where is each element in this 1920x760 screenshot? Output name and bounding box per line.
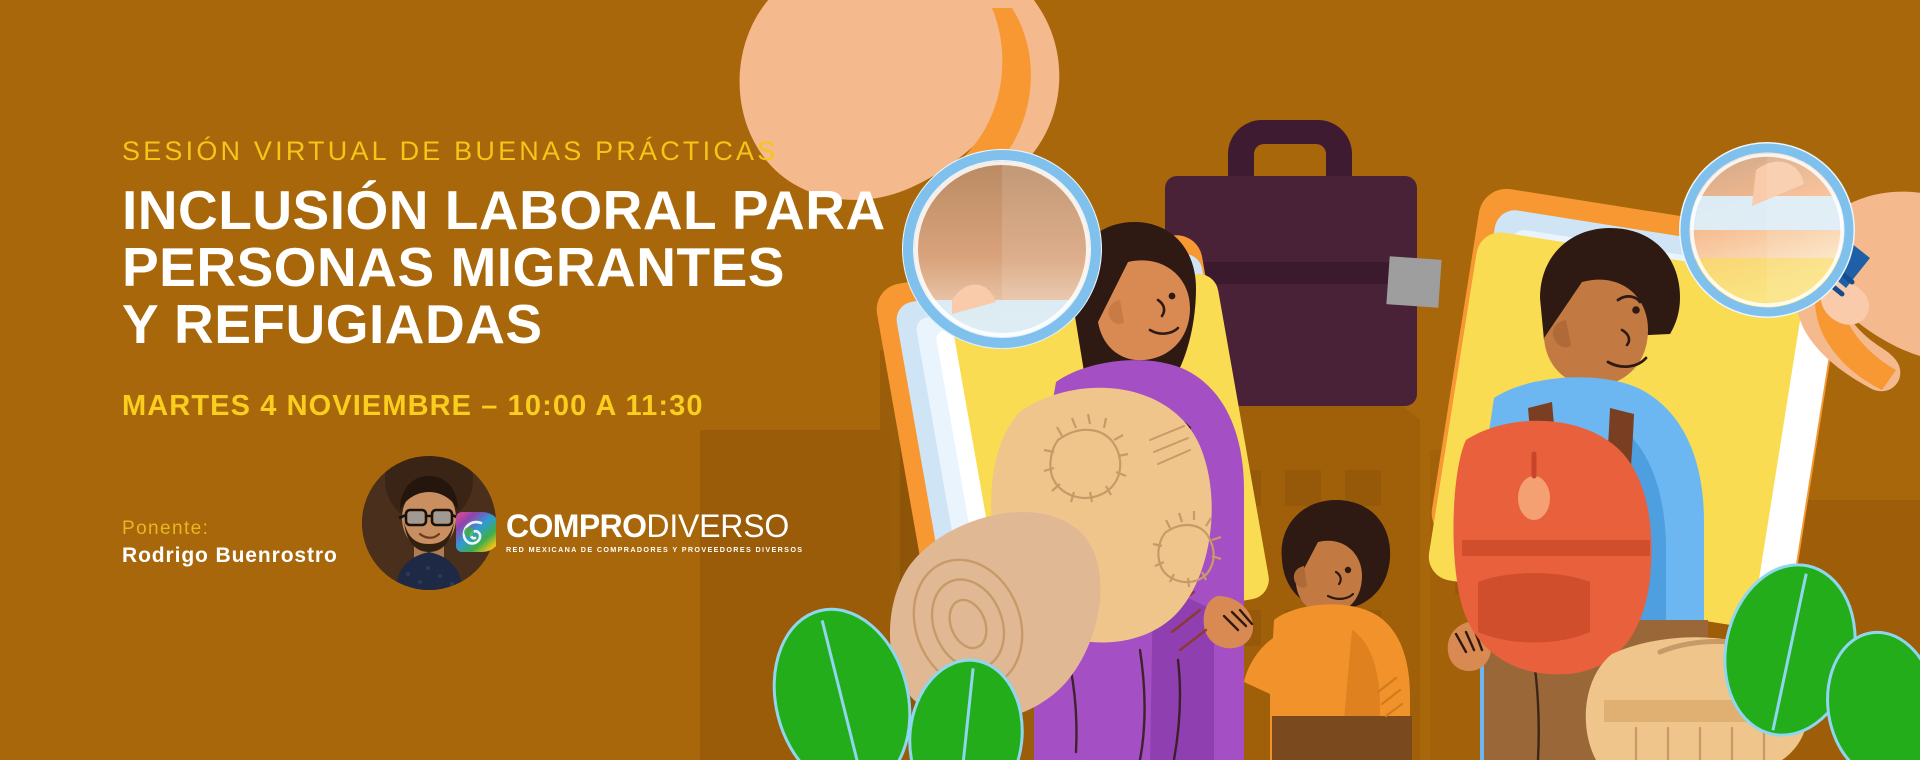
headline-line-3: Y REFUGIADAS <box>122 296 886 353</box>
text-content-block: SESIÓN VIRTUAL DE BUENAS PRÁCTICAS INCLU… <box>122 0 922 760</box>
logo-name-light: DIVERSO <box>646 510 789 542</box>
headline-line-2: PERSONAS MIGRANTES <box>122 239 886 296</box>
comprodiverso-logo-mark-icon <box>452 510 496 554</box>
logo-tagline: RED MEXICANA DE COMPRADORES Y PROVEEDORE… <box>506 546 803 553</box>
speaker-label: Ponente: <box>122 518 382 540</box>
logo-name-bold: COMPRO <box>506 510 646 542</box>
speaker-block: Ponente: Rodrigo Buenrostro <box>122 518 382 568</box>
headline-line-1: INCLUSIÓN LABORAL PARA <box>122 182 886 239</box>
comprodiverso-logo-text: COMPRO DIVERSO RED MEXICANA DE COMPRADOR… <box>506 510 803 553</box>
promotional-banner: SESIÓN VIRTUAL DE BUENAS PRÁCTICAS INCLU… <box>0 0 1920 760</box>
speaker-name: Rodrigo Buenrostro <box>122 544 382 568</box>
event-datetime: MARTES 4 NOVIEMBRE – 10:00 A 11:30 <box>122 390 704 423</box>
kicker-text: SESIÓN VIRTUAL DE BUENAS PRÁCTICAS <box>122 136 778 167</box>
page-title: INCLUSIÓN LABORAL PARA PERSONAS MIGRANTE… <box>122 182 886 353</box>
comprodiverso-logo: COMPRO DIVERSO RED MEXICANA DE COMPRADOR… <box>452 510 803 554</box>
